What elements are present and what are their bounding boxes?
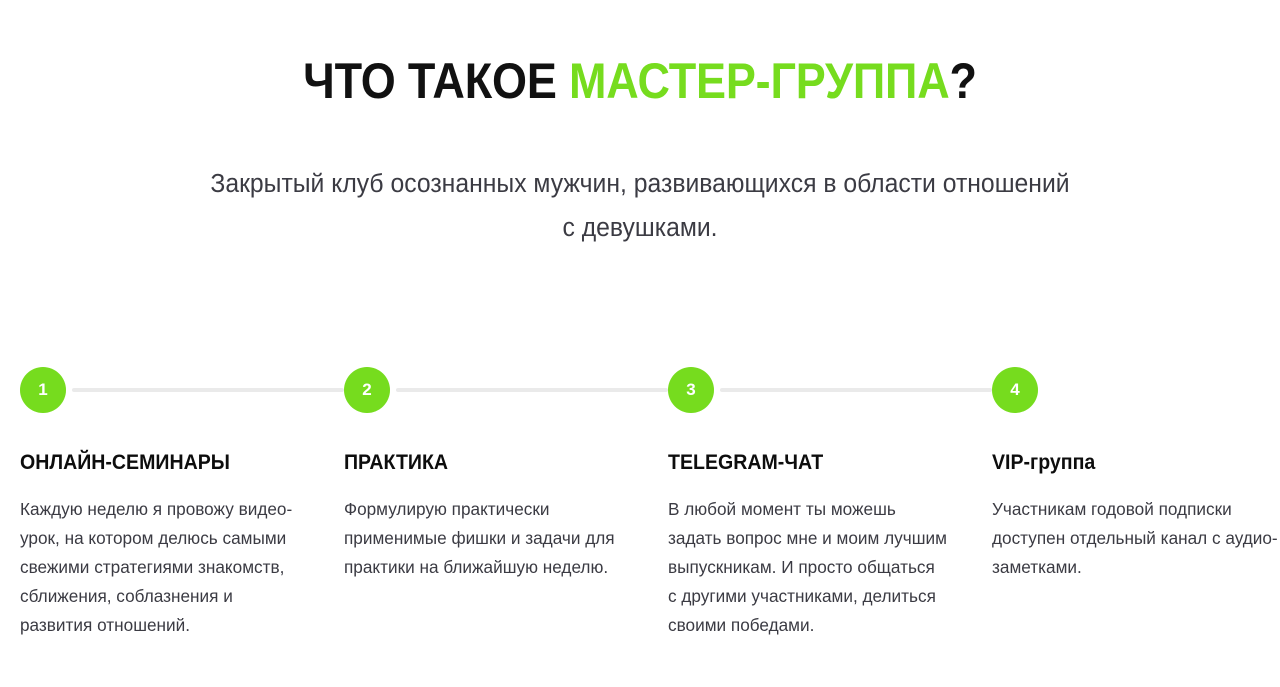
page-title-accent: МАСТЕР-ГРУППА — [569, 53, 950, 109]
step-badge-row: 1 — [20, 367, 310, 413]
step-number-badge: 4 — [992, 367, 1038, 413]
step-connector-line — [72, 388, 344, 392]
step-number-badge: 2 — [344, 367, 390, 413]
step-heading: ПРАКТИКА — [344, 449, 608, 475]
step-item: 2 ПРАКТИКА Формулирую практически примен… — [344, 367, 634, 413]
step-badge-row: 3 — [668, 367, 958, 413]
step-heading: TELEGRAM-ЧАТ — [668, 449, 932, 475]
page-title-prefix: ЧТО ТАКОЕ — [303, 53, 569, 109]
step-body-text: Участникам годовой подписки доступен отд… — [992, 495, 1278, 582]
step-body-text: Каждую неделю я провожу видео-урок, на к… — [20, 495, 300, 640]
page-subtitle: Закрытый клуб осознанных мужчин, развива… — [204, 162, 1077, 250]
step-badge-row: 4 — [992, 367, 1280, 413]
steps-list: 1 ОНЛАЙН-СЕМИНАРЫ Каждую неделю я провож… — [0, 367, 1280, 667]
landing-section: ЧТО ТАКОЕ МАСТЕР-ГРУППА? Закрытый клуб о… — [0, 0, 1280, 687]
step-connector-line — [720, 388, 992, 392]
step-badge-row: 2 — [344, 367, 634, 413]
step-heading: VIP-группа — [992, 449, 1256, 475]
step-item: 1 ОНЛАЙН-СЕМИНАРЫ Каждую неделю я провож… — [20, 367, 310, 413]
step-connector-line — [396, 388, 668, 392]
step-item: 3 TELEGRAM-ЧАТ В любой момент ты можешь … — [668, 367, 958, 413]
page-title-suffix: ? — [950, 53, 977, 109]
step-body-text: Формулирую практически применимые фишки … — [344, 495, 624, 582]
step-heading: ОНЛАЙН-СЕМИНАРЫ — [20, 449, 284, 475]
step-item: 4 VIP-группа Участникам годовой подписки… — [992, 367, 1280, 413]
step-number-badge: 1 — [20, 367, 66, 413]
step-number-badge: 3 — [668, 367, 714, 413]
step-body-text: В любой момент ты можешь задать вопрос м… — [668, 495, 948, 640]
page-title: ЧТО ТАКОЕ МАСТЕР-ГРУППА? — [64, 52, 1216, 110]
